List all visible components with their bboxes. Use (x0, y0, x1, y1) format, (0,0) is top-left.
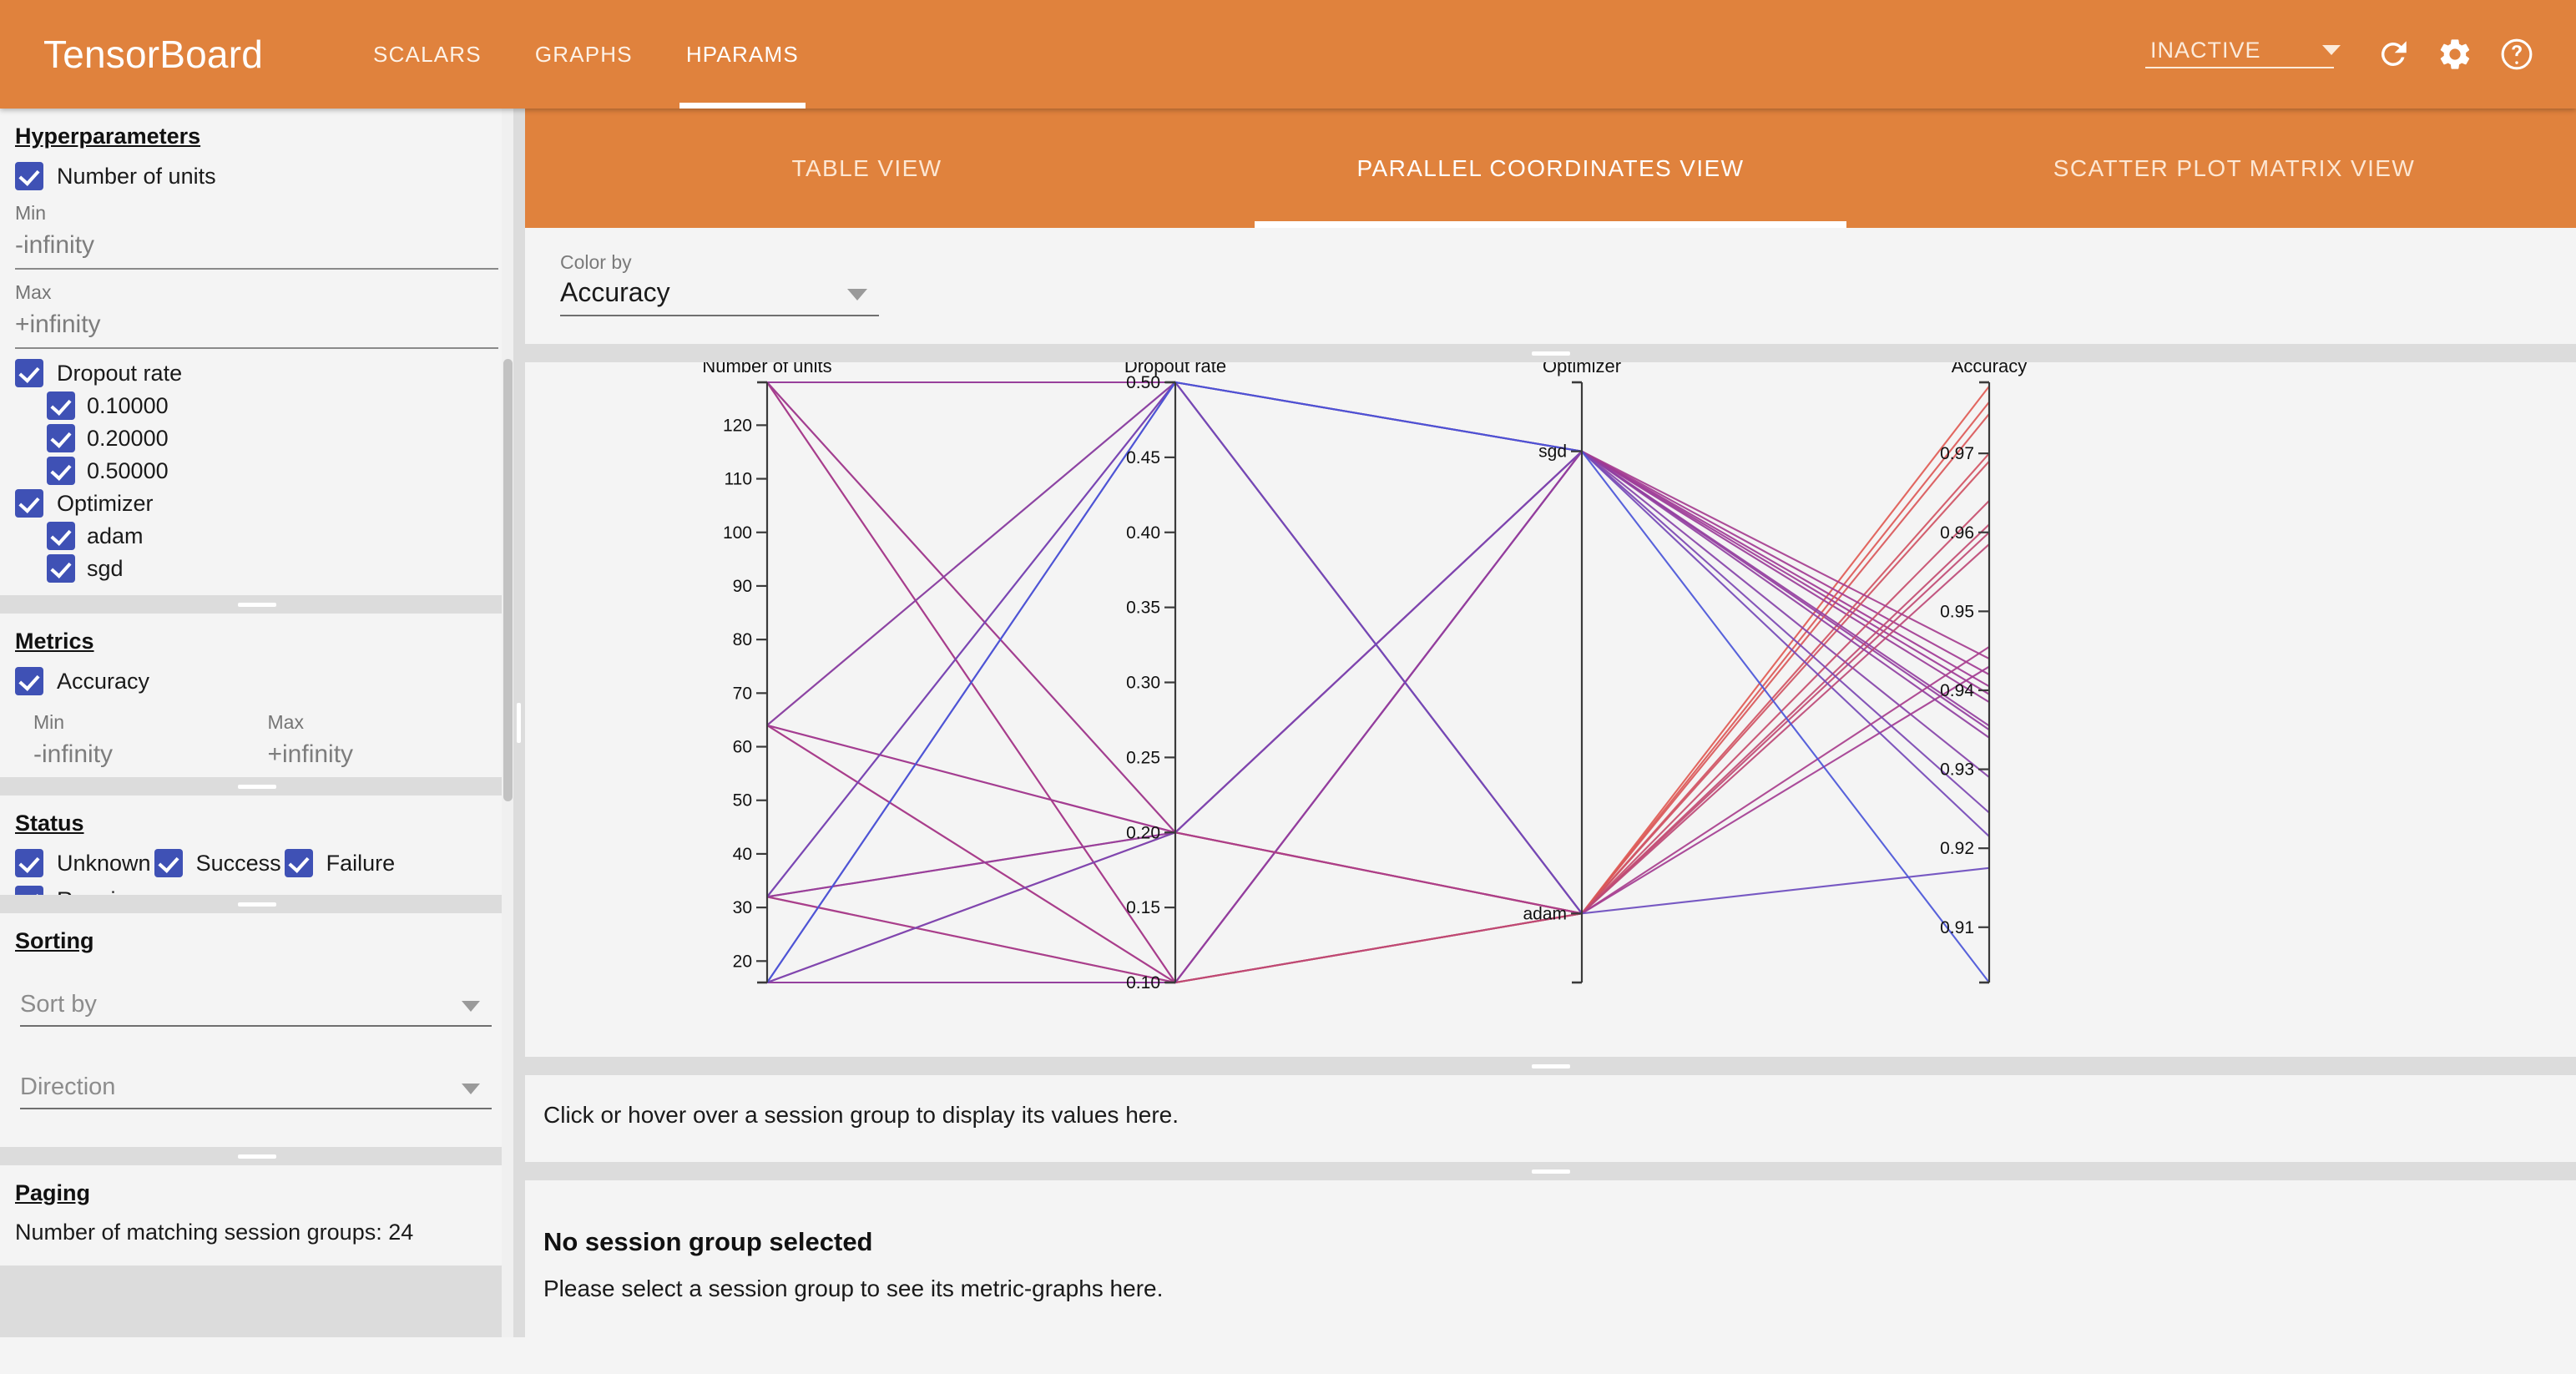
svg-text:0.45: 0.45 (1126, 448, 1160, 467)
status-row-success[interactable]: Success (154, 849, 281, 877)
accuracy-min-label: Min (33, 711, 246, 734)
sort-by-select[interactable]: Sort by (20, 991, 492, 1027)
main-content: TABLE VIEW PARALLEL COORDINATES VIEW SCA… (525, 109, 2576, 1337)
status-label-success: Success (196, 851, 281, 876)
run-status-underline (2145, 67, 2334, 68)
sidebar-scrollbar-thumb[interactable] (503, 359, 513, 801)
session-panel-title: No session group selected (543, 1227, 2558, 1257)
svg-text:Optimizer: Optimizer (1543, 362, 1621, 376)
help-icon (2498, 36, 2535, 73)
checkbox-dropout-0.20000[interactable] (47, 424, 75, 452)
hparam-optimizer-label: Optimizer (57, 491, 154, 517)
metrics-panel: Metrics Accuracy Min -infinity Max +infi… (0, 614, 513, 777)
sort-by-placeholder: Sort by (20, 991, 97, 1018)
panel-splitter-chart-top[interactable] (525, 344, 2576, 362)
hparam-optimizer-row[interactable]: Optimizer (15, 489, 498, 518)
dropout-value-row-2[interactable]: 0.50000 (15, 457, 498, 485)
checkbox-dropout-0.50000[interactable] (47, 457, 75, 485)
settings-button[interactable] (2424, 23, 2486, 85)
panel-splitter-metrics[interactable] (0, 777, 513, 796)
sidebar-scrollbar-track[interactable] (502, 109, 513, 1337)
checkbox-status-unknown[interactable] (15, 849, 43, 877)
svg-text:30: 30 (733, 898, 752, 917)
session-line[interactable] (767, 382, 1989, 983)
accuracy-max-label: Max (268, 711, 481, 734)
svg-text:100: 100 (723, 523, 752, 543)
session-line[interactable] (767, 501, 1989, 983)
svg-text:110: 110 (725, 470, 752, 489)
topnav-item-hparams[interactable]: HPARAMS (659, 0, 826, 109)
session-line[interactable] (767, 382, 1989, 983)
status-title: Status (15, 811, 84, 836)
svg-text:sgd: sgd (1538, 442, 1567, 462)
color-by-value: Accuracy (560, 277, 670, 308)
svg-text:Accuracy: Accuracy (1952, 362, 2027, 376)
svg-text:80: 80 (733, 630, 752, 649)
checkbox-dropout-0.10000[interactable] (47, 391, 75, 420)
color-by-bar: Color by Accuracy (525, 228, 2576, 344)
refresh-button[interactable] (2362, 23, 2424, 85)
topnav-item-scalars[interactable]: SCALARS (346, 0, 508, 109)
parallel-coordinates-chart[interactable]: Number of units2030405060708090100110120… (525, 362, 2576, 1057)
checkbox-dropout-rate[interactable] (15, 359, 43, 387)
accuracy-min-field[interactable]: Min -infinity (33, 711, 246, 779)
dropout-value-label-1: 0.20000 (87, 426, 169, 452)
optimizer-value-row-0[interactable]: adam (15, 522, 498, 550)
direction-placeholder: Direction (20, 1073, 115, 1101)
session-line[interactable] (767, 382, 1989, 983)
top-app-bar: TensorBoard SCALARS GRAPHS HPARAMS INACT… (0, 0, 2576, 109)
optimizer-value-label-0: adam (87, 523, 144, 549)
paging-title: Paging (15, 1180, 90, 1206)
svg-text:0.10: 0.10 (1126, 973, 1160, 993)
svg-text:0.15: 0.15 (1126, 898, 1160, 917)
paging-panel: Paging Number of matching session groups… (0, 1165, 513, 1265)
svg-text:0.25: 0.25 (1126, 748, 1160, 767)
help-button[interactable] (2486, 23, 2548, 85)
session-line[interactable] (767, 382, 1989, 832)
hyperparameters-title: Hyperparameters (15, 124, 200, 149)
number-of-units-min-label: Min (15, 202, 498, 225)
panel-splitter-sorting[interactable] (0, 1147, 513, 1165)
hover-values-panel: Click or hover over a session group to d… (525, 1075, 2576, 1162)
hparam-dropout-rate-row[interactable]: Dropout rate (15, 359, 498, 387)
top-navigation: SCALARS GRAPHS HPARAMS (346, 0, 826, 109)
svg-text:50: 50 (733, 791, 752, 811)
hparam-dropout-rate-label: Dropout rate (57, 361, 182, 386)
accuracy-max-value[interactable]: +infinity (268, 737, 481, 779)
session-panel-subtitle: Please select a session group to see its… (543, 1275, 2558, 1302)
color-by-select[interactable]: Accuracy (560, 277, 879, 316)
session-line[interactable] (767, 452, 1989, 897)
svg-text:0.92: 0.92 (1940, 839, 1974, 858)
dropout-value-row-1[interactable]: 0.20000 (15, 424, 498, 452)
session-line[interactable] (767, 544, 1989, 983)
sorting-title: Sorting (15, 928, 94, 954)
session-group-panel: No session group selected Please select … (525, 1180, 2576, 1374)
number-of-units-min-value[interactable]: -infinity (15, 228, 498, 270)
optimizer-value-label-1: sgd (87, 556, 124, 582)
optimizer-value-row-1[interactable]: sgd (15, 554, 498, 583)
app-brand: TensorBoard (43, 32, 263, 77)
checkbox-optimizer-sgd[interactable] (47, 554, 75, 583)
hparam-number-of-units-label: Number of units (57, 164, 216, 189)
refresh-icon (2376, 37, 2411, 72)
tab-parallel-coordinates-view[interactable]: PARALLEL COORDINATES VIEW (1209, 109, 1892, 228)
svg-text:Number of units: Number of units (702, 362, 831, 376)
run-status-dropdown[interactable]: INACTIVE (2145, 38, 2346, 72)
chevron-down-icon (462, 1084, 480, 1094)
panel-splitter-status[interactable] (0, 895, 513, 913)
metrics-title: Metrics (15, 629, 94, 654)
checkbox-metric-accuracy[interactable] (15, 667, 43, 695)
dropout-value-label-2: 0.50000 (87, 458, 169, 484)
session-line[interactable] (767, 414, 1989, 983)
metric-accuracy-range: Min -infinity Max +infinity (15, 700, 498, 789)
metric-accuracy-row[interactable]: Accuracy (15, 667, 498, 695)
svg-text:0.97: 0.97 (1940, 444, 1974, 463)
session-line[interactable] (767, 452, 1989, 983)
session-line[interactable] (767, 382, 1989, 730)
checkbox-number-of-units[interactable] (15, 162, 43, 190)
svg-text:120: 120 (723, 416, 752, 435)
checkbox-status-failure[interactable] (285, 849, 313, 877)
color-by-label: Color by (560, 251, 632, 273)
hover-hint-text: Click or hover over a session group to d… (543, 1102, 2558, 1129)
chevron-down-icon (847, 289, 867, 301)
direction-select[interactable]: Direction (20, 1073, 492, 1109)
number-of-units-max-field[interactable]: Max +infinity (15, 281, 498, 349)
checkbox-optimizer-adam[interactable] (47, 522, 75, 550)
hyperparameters-panel: Hyperparameters Number of units Min -inf… (0, 109, 513, 595)
status-label-unknown: Unknown (57, 851, 151, 876)
svg-text:40: 40 (733, 845, 752, 864)
tab-table-view[interactable]: TABLE VIEW (525, 109, 1209, 228)
status-row-unknown[interactable]: Unknown (15, 849, 151, 877)
panel-splitter-session[interactable] (525, 1162, 2576, 1180)
top-bar-actions: INACTIVE (2145, 23, 2548, 85)
svg-text:60: 60 (733, 738, 752, 757)
sidebar-resize-handle[interactable] (513, 109, 525, 1337)
session-line[interactable] (767, 524, 1989, 913)
view-tab-bar: TABLE VIEW PARALLEL COORDINATES VIEW SCA… (525, 109, 2576, 228)
number-of-units-max-label: Max (15, 281, 498, 304)
svg-text:0.95: 0.95 (1940, 602, 1974, 621)
svg-text:0.93: 0.93 (1940, 760, 1974, 780)
svg-text:adam: adam (1523, 904, 1567, 923)
checkbox-status-success[interactable] (154, 849, 183, 877)
svg-text:20: 20 (733, 952, 752, 971)
dropout-value-row-0[interactable]: 0.10000 (15, 391, 498, 420)
svg-text:0.50: 0.50 (1126, 373, 1160, 392)
accuracy-max-field[interactable]: Max +infinity (268, 711, 481, 779)
svg-text:90: 90 (733, 577, 752, 596)
status-row-failure[interactable]: Failure (285, 849, 396, 877)
status-panel: Status Unknown Success Failure Running (0, 796, 513, 895)
topnav-item-graphs[interactable]: GRAPHS (508, 0, 659, 109)
number-of-units-max-value[interactable]: +infinity (15, 307, 498, 349)
left-sidebar: Hyperparameters Number of units Min -inf… (0, 109, 513, 1337)
metric-accuracy-label: Accuracy (57, 669, 149, 695)
session-line[interactable] (767, 647, 1989, 983)
checkbox-optimizer[interactable] (15, 489, 43, 518)
axis-dropout-rate: Dropout rate0.100.150.200.250.300.350.40… (1124, 362, 1226, 993)
session-line[interactable] (767, 382, 1989, 983)
panel-splitter-hover[interactable] (525, 1057, 2576, 1075)
session-lines (767, 382, 1989, 983)
svg-text:0.96: 0.96 (1940, 523, 1974, 543)
paging-matching-count: Number of matching session groups: 24 (15, 1220, 498, 1245)
svg-text:0.94: 0.94 (1940, 681, 1974, 700)
parallel-coordinates-svg: Number of units2030405060708090100110120… (525, 362, 2576, 1057)
sorting-panel: Sorting Sort by Direction (0, 913, 513, 1147)
tab-scatter-plot-matrix-view[interactable]: SCATTER PLOT MATRIX VIEW (1892, 109, 2576, 228)
accuracy-min-value[interactable]: -infinity (33, 737, 246, 779)
status-label-failure: Failure (326, 851, 396, 876)
dropout-value-label-0: 0.10000 (87, 393, 169, 419)
svg-text:0.20: 0.20 (1126, 823, 1160, 842)
number-of-units-min-field[interactable]: Min -infinity (15, 202, 498, 270)
gear-icon (2437, 36, 2473, 73)
svg-text:0.30: 0.30 (1126, 674, 1160, 693)
panel-splitter-hyperparameters[interactable] (0, 595, 513, 614)
hparam-number-of-units-row[interactable]: Number of units (15, 162, 498, 190)
svg-text:0.91: 0.91 (1940, 918, 1974, 937)
svg-text:0.35: 0.35 (1126, 599, 1160, 618)
chevron-down-icon (2322, 45, 2341, 63)
chevron-down-icon (462, 1001, 480, 1012)
svg-text:70: 70 (733, 684, 752, 703)
svg-text:0.40: 0.40 (1126, 523, 1160, 543)
